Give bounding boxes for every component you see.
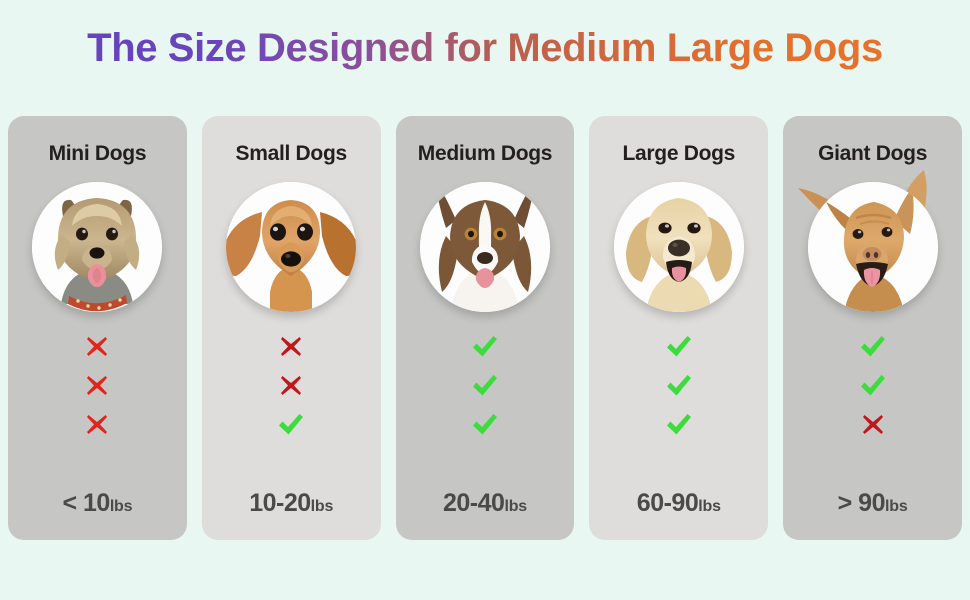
size-chart-columns: Mini Dogs [8,116,962,540]
check-icon [472,412,498,436]
column-title: Small Dogs [236,142,347,166]
cross-icon [84,334,110,358]
weight-range: < 10lbs [8,489,187,518]
infographic-root: The Size Designed for Medium Large Dogs … [0,0,970,600]
column-title: Medium Dogs [418,142,552,166]
weight-number: > 90 [838,489,885,517]
photo-wrap [226,182,356,312]
column-small-dogs[interactable]: Small Dogs [202,116,381,540]
weight-unit: lbs [311,498,334,515]
check-icon [472,373,498,397]
check-icon [666,373,692,397]
column-giant-dogs[interactable]: Giant Dogs [783,116,962,540]
column-mini-dogs[interactable]: Mini Dogs [8,116,187,540]
golden-retriever-photo [614,182,744,312]
check-icon [860,373,886,397]
pit-bull-terrier-photo [808,182,938,312]
weight-number: 60-90 [637,489,698,517]
marks-list [666,334,692,436]
check-icon [278,412,304,436]
page-title: The Size Designed for Medium Large Dogs [0,26,970,71]
column-medium-dogs[interactable]: Medium Dogs [396,116,575,540]
dachshund-photo [226,182,356,312]
column-large-dogs[interactable]: Large Dogs [589,116,768,540]
cross-icon [84,373,110,397]
cross-icon [84,412,110,436]
yorkshire-terrier-photo [32,182,162,312]
marks-list [84,334,110,436]
column-title: Giant Dogs [818,142,927,166]
weight-range: 10-20lbs [202,489,381,518]
cross-icon [278,373,304,397]
weight-range: > 90lbs [783,489,962,518]
check-icon [860,334,886,358]
weight-number: < 10 [62,489,109,517]
weight-unit: lbs [885,498,908,515]
check-icon [666,334,692,358]
marks-list [860,334,886,436]
marks-list [278,334,304,436]
column-title: Large Dogs [623,142,736,166]
border-collie-photo [420,182,550,312]
weight-unit: lbs [698,498,721,515]
photo-wrap [808,182,938,312]
check-icon [472,334,498,358]
weight-range: 20-40lbs [396,489,575,518]
weight-number: 10-20 [249,489,310,517]
check-icon [666,412,692,436]
cross-icon [860,412,886,436]
weight-range: 60-90lbs [589,489,768,518]
photo-wrap [420,182,550,312]
weight-number: 20-40 [443,489,504,517]
weight-unit: lbs [110,498,133,515]
column-title: Mini Dogs [49,142,147,166]
weight-unit: lbs [504,498,527,515]
cross-icon [278,334,304,358]
photo-wrap [614,182,744,312]
marks-list [472,334,498,436]
photo-wrap [32,182,162,312]
